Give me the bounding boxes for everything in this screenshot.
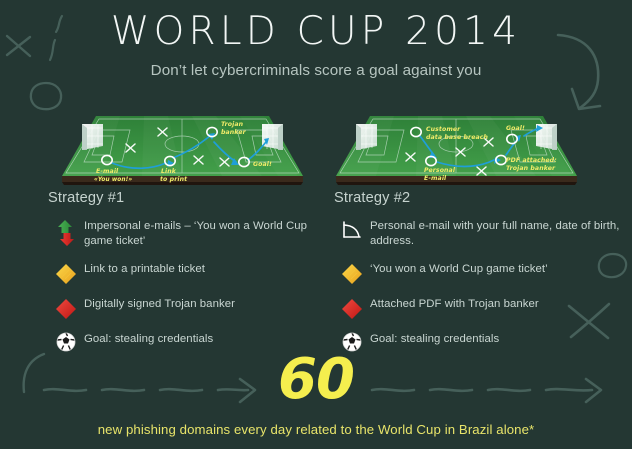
list-item-label: Impersonal e-mails – ‘You won a World Cu… xyxy=(84,218,338,249)
list-item-label: Goal: stealing credentials xyxy=(84,331,213,347)
list-item: Link to a printable ticket xyxy=(48,261,338,287)
infographic-canvas: WORLD CUP 2014 Don’t let cybercriminals … xyxy=(0,0,632,449)
dashed-arrow-left xyxy=(40,374,260,408)
svg-text:Trojan: Trojan xyxy=(221,121,244,128)
strategy-1-pitch: E-mail «You won!» Link to print Trojan b… xyxy=(60,110,305,190)
svg-text:Personal: Personal xyxy=(424,167,456,174)
header: WORLD CUP 2014 Don’t let cybercriminals … xyxy=(0,12,632,79)
list-item: Digitally signed Trojan banker xyxy=(48,296,338,322)
soccer-ball-icon xyxy=(48,331,84,352)
svg-text:data base breach: data base breach xyxy=(426,133,489,141)
stat-number: 60 xyxy=(278,352,354,408)
strategy-2-column: Strategy #2 Personal e-mail with your fu… xyxy=(334,190,624,366)
yellow-diamond-icon xyxy=(48,261,84,286)
up-down-arrows-icon xyxy=(48,218,84,247)
circle-decoration xyxy=(27,80,65,112)
svg-text:Customer: Customer xyxy=(426,125,461,133)
svg-text:Goal!: Goal! xyxy=(506,125,525,132)
list-item: Personal e-mail with your full name, dat… xyxy=(334,218,624,252)
list-item: Attached PDF with Trojan banker xyxy=(334,296,624,322)
svg-text:E-mail: E-mail xyxy=(424,175,447,182)
strategy-1-column: Strategy #1 Impersonal e-mails xyxy=(48,190,338,366)
list-item-label: Digitally signed Trojan banker xyxy=(84,296,235,312)
svg-text:banker: banker xyxy=(221,129,247,136)
list-item: ‘You won a World Cup game ticket’ xyxy=(334,261,624,287)
svg-text:Link: Link xyxy=(161,168,177,175)
stat-caption: new phishing domains every day related t… xyxy=(0,422,632,437)
svg-text:Goal!: Goal! xyxy=(253,161,272,168)
page-title: WORLD CUP 2014 xyxy=(0,12,632,53)
svg-text:«You won!»: «You won!» xyxy=(94,177,132,183)
list-item-label: Personal e-mail with your full name, dat… xyxy=(370,218,624,249)
stat-section: 60 new phishing domains every day relate… xyxy=(0,358,632,420)
page-subtitle: Don’t let cybercriminals score a goal ag… xyxy=(0,62,632,79)
svg-text:E-mail: E-mail xyxy=(96,168,119,175)
corner-flag-icon xyxy=(334,218,370,241)
svg-text:to print: to print xyxy=(160,175,188,183)
list-item-label: Goal: stealing credentials xyxy=(370,331,499,347)
list-item: Impersonal e-mails – ‘You won a World Cu… xyxy=(48,218,338,252)
list-item: Goal: stealing credentials xyxy=(334,331,624,357)
strategy-1-heading: Strategy #1 xyxy=(48,190,338,206)
red-diamond-icon xyxy=(334,296,370,321)
strategy-2-heading: Strategy #2 xyxy=(334,190,624,206)
svg-text:PDF attached:: PDF attached: xyxy=(506,156,557,164)
list-item-label: ‘You won a World Cup game ticket’ xyxy=(370,261,548,277)
svg-text:Trojan banker: Trojan banker xyxy=(506,165,556,172)
dashed-arrow-right xyxy=(368,374,608,408)
strategy-2-pitch: Customer data base breach Personal E-mai… xyxy=(334,110,579,190)
list-item-label: Attached PDF with Trojan banker xyxy=(370,296,539,312)
yellow-diamond-icon xyxy=(334,261,370,286)
list-item-label: Link to a printable ticket xyxy=(84,261,205,277)
red-diamond-icon xyxy=(48,296,84,321)
